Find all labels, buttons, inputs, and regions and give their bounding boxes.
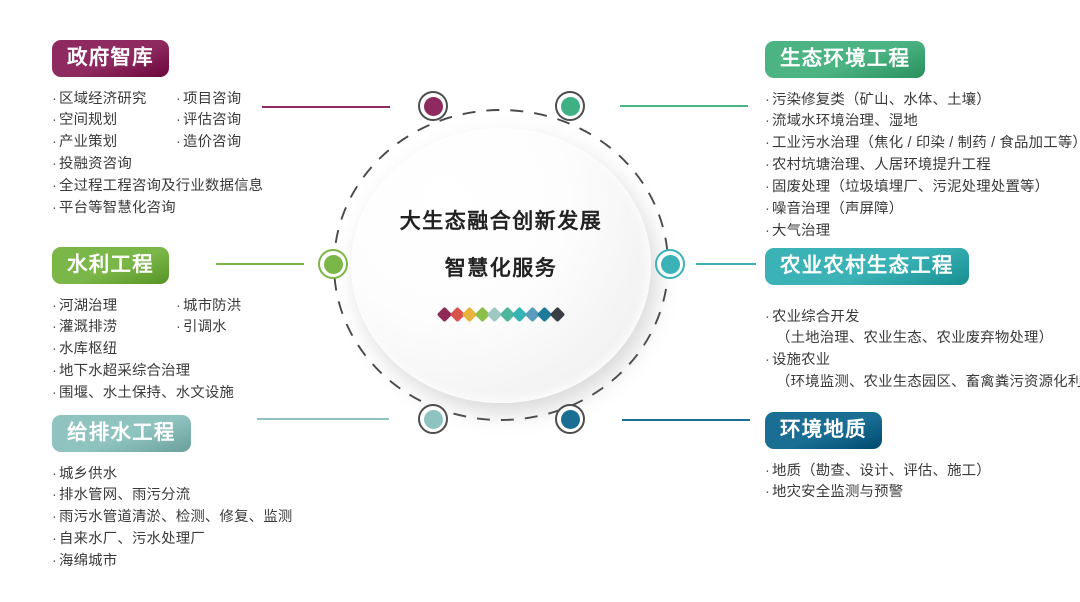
- list-item: ·评估咨询: [176, 110, 296, 132]
- gov-col1: ·区域经济研究 ·空间规划 ·产业策划: [52, 89, 176, 155]
- list-item: ·设施农业: [765, 350, 1080, 372]
- list-item-label: 引调水: [183, 319, 227, 335]
- badge-drain[interactable]: 给排水工程: [52, 415, 191, 452]
- center-title-line1: 大生态融合创新发展: [400, 211, 603, 232]
- list-item: ·地下水超采综合治理: [52, 361, 296, 383]
- list-item: ·雨污水管道清淤、检测、修复、监测: [52, 507, 292, 529]
- list-item-label: 全过程工程咨询及行业数据信息: [59, 178, 263, 194]
- list-item: ·灌溉排涝: [52, 317, 176, 339]
- list-item: ·平台等智慧化咨询: [52, 198, 296, 220]
- list-item-label: 地灾安全监测与预警: [772, 484, 903, 500]
- list-item-label: 城乡供水: [59, 466, 117, 482]
- list-item: ·污染修复类（矿山、水体、土壤）: [765, 90, 1080, 112]
- list-item-label: 污染修复类（矿山、水体、土壤）: [772, 92, 991, 108]
- water-two-column: ·河湖治理 ·灌溉排涝 ·城市防洪 ·引调水: [52, 296, 296, 340]
- category-block-agri: 农业农村生态工程 ·农业综合开发（土地治理、农业生态、农业废弃物处理）·设施农业…: [765, 248, 1080, 394]
- list-item: ·区域经济研究: [52, 89, 176, 111]
- bullet-icon: ·: [765, 463, 770, 479]
- list-item: ·排水管网、雨污分流: [52, 485, 292, 507]
- bullet-icon: ·: [52, 531, 57, 547]
- bullet-icon: ·: [765, 352, 770, 368]
- node-agri[interactable]: [655, 249, 685, 279]
- node-gov-core: [424, 97, 443, 116]
- bullet-icon: ·: [52, 112, 57, 128]
- list-item-label: 灌溉排涝: [59, 319, 117, 335]
- list-item-label: 农业综合开发: [772, 309, 860, 325]
- list-item: ·围堰、水土保持、水文设施: [52, 383, 296, 405]
- list-item-label: 排水管网、雨污分流: [59, 487, 190, 503]
- node-geo-core: [561, 410, 580, 429]
- water-col1: ·河湖治理 ·灌溉排涝: [52, 296, 176, 340]
- bullet-icon: ·: [52, 298, 57, 314]
- list-item: ·河湖治理: [52, 296, 176, 318]
- bullet-icon: ·: [52, 178, 57, 194]
- list-item: ·投融资咨询: [52, 154, 296, 176]
- bullet-icon: ·: [52, 319, 57, 335]
- node-agri-core: [661, 255, 680, 274]
- badge-agri[interactable]: 农业农村生态工程: [765, 248, 969, 285]
- list-item-label: 城市防洪: [183, 298, 241, 314]
- list-item-label: 固废处理（垃圾填埋厂、污泥处理处置等）: [772, 179, 1049, 195]
- list-item-label: 农村坑塘治理、人居环境提升工程: [772, 157, 991, 173]
- list-item-label: 设施农业: [772, 352, 830, 368]
- node-drain-core: [424, 410, 443, 429]
- node-drain[interactable]: [418, 404, 448, 434]
- list-item: ·引调水: [176, 317, 296, 339]
- bullet-icon: ·: [765, 201, 770, 217]
- category-block-eco: 生态环境工程 ·污染修复类（矿山、水体、土壤）·流域水环境治理、湿地·工业污水治…: [765, 41, 1080, 243]
- list-item: ·地质（勘查、设计、评估、施工）: [765, 461, 991, 483]
- list-item: ·流域水环境治理、湿地: [765, 111, 1080, 133]
- bullet-icon: ·: [52, 487, 57, 503]
- badge-geo[interactable]: 环境地质: [765, 412, 882, 449]
- list-item-label: 造价咨询: [183, 134, 241, 150]
- list-item-label: 河湖治理: [59, 298, 117, 314]
- node-gov[interactable]: [418, 91, 448, 121]
- list-item: ·地灾安全监测与预警: [765, 482, 991, 504]
- gov-item-list: ·区域经济研究 ·空间规划 ·产业策划 ·项目咨询 ·评估咨询 ·造价咨询 ·投…: [52, 89, 296, 220]
- node-geo[interactable]: [555, 404, 585, 434]
- drain-item-list: ·城乡供水·排水管网、雨污分流·雨污水管道清淤、检测、修复、监测·自来水厂、污水…: [52, 464, 292, 573]
- list-item-label: （土地治理、农业生态、农业废弃物处理）: [776, 330, 1053, 346]
- bullet-icon: ·: [765, 113, 770, 129]
- list-item: ·产业策划: [52, 132, 176, 154]
- bullet-icon: ·: [176, 112, 181, 128]
- bullet-icon: ·: [176, 319, 181, 335]
- bullet-icon: ·: [765, 135, 770, 151]
- list-item: ·工业污水治理（焦化 / 印染 / 制药 / 食品加工等）: [765, 133, 1080, 155]
- bullet-icon: ·: [52, 363, 57, 379]
- list-item-label: 自来水厂、污水处理厂: [59, 531, 205, 547]
- bullet-icon: ·: [176, 134, 181, 150]
- list-item: ·大气治理: [765, 221, 1080, 243]
- list-item: （环境监测、农业生态园区、畜禽粪污资源化利用）: [765, 372, 1080, 394]
- list-item-label: （环境监测、农业生态园区、畜禽粪污资源化利用）: [776, 374, 1080, 390]
- list-item: ·项目咨询: [176, 89, 296, 111]
- list-item: ·造价咨询: [176, 132, 296, 154]
- list-item-label: 围堰、水土保持、水文设施: [59, 385, 234, 401]
- bullet-icon: ·: [52, 509, 57, 525]
- category-block-geo: 环境地质 ·地质（勘查、设计、评估、施工）·地灾安全监测与预警: [765, 412, 991, 504]
- bullet-icon: ·: [765, 309, 770, 325]
- category-block-water: 水利工程 ·河湖治理 ·灌溉排涝 ·城市防洪 ·引调水 ·水库枢纽 ·地下水超采…: [52, 247, 296, 405]
- node-water-core: [324, 255, 343, 274]
- list-item-label: 区域经济研究: [59, 91, 147, 107]
- bullet-icon: ·: [52, 134, 57, 150]
- list-item-label: 投融资咨询: [59, 156, 132, 172]
- list-item: ·海绵城市: [52, 551, 292, 573]
- bullet-icon: ·: [765, 179, 770, 195]
- list-item-label: 大气治理: [772, 223, 830, 239]
- node-water[interactable]: [318, 249, 348, 279]
- bullet-icon: ·: [52, 466, 57, 482]
- diagram-canvas: 大生态融合创新发展 智慧化服务 政府智库 ·区域经济研究 ·空间规划 ·产业策划…: [0, 0, 1080, 602]
- list-item: ·空间规划: [52, 110, 176, 132]
- water-col2: ·城市防洪 ·引调水: [176, 296, 296, 340]
- list-item-label: 地下水超采综合治理: [59, 363, 190, 379]
- badge-eco[interactable]: 生态环境工程: [765, 41, 925, 78]
- bullet-icon: ·: [52, 385, 57, 401]
- list-item: ·全过程工程咨询及行业数据信息: [52, 176, 296, 198]
- agri-item-list: ·农业综合开发（土地治理、农业生态、农业废弃物处理）·设施农业（环境监测、农业生…: [765, 307, 1080, 395]
- bullet-icon: ·: [52, 341, 57, 357]
- list-item: ·农业综合开发: [765, 307, 1080, 329]
- bullet-icon: ·: [52, 91, 57, 107]
- category-block-gov: 政府智库 ·区域经济研究 ·空间规划 ·产业策划 ·项目咨询 ·评估咨询 ·造价…: [52, 40, 296, 220]
- bullet-icon: ·: [52, 156, 57, 172]
- node-eco[interactable]: [555, 91, 585, 121]
- gov-two-column: ·区域经济研究 ·空间规划 ·产业策划 ·项目咨询 ·评估咨询 ·造价咨询: [52, 89, 296, 155]
- node-eco-core: [561, 97, 580, 116]
- list-item-label: 空间规划: [59, 112, 117, 128]
- water-item-list: ·河湖治理 ·灌溉排涝 ·城市防洪 ·引调水 ·水库枢纽 ·地下水超采综合治理 …: [52, 296, 296, 405]
- bullet-icon: ·: [52, 200, 57, 216]
- list-item-label: 评估咨询: [183, 112, 241, 128]
- center-hub: 大生态融合创新发展 智慧化服务: [318, 95, 684, 435]
- gov-col2: ·项目咨询 ·评估咨询 ·造价咨询: [176, 89, 296, 155]
- list-item: （土地治理、农业生态、农业废弃物处理）: [765, 328, 1080, 350]
- center-title-line2: 智慧化服务: [445, 258, 558, 279]
- badge-gov[interactable]: 政府智库: [52, 40, 169, 77]
- list-item: ·城乡供水: [52, 464, 292, 486]
- bullet-icon: ·: [765, 92, 770, 108]
- list-item-label: 流域水环境治理、湿地: [772, 113, 918, 129]
- diamond-decoration: [439, 309, 563, 320]
- geo-item-list: ·地质（勘查、设计、评估、施工）·地灾安全监测与预警: [765, 461, 991, 505]
- bullet-icon: ·: [52, 553, 57, 569]
- bullet-icon: ·: [765, 223, 770, 239]
- bullet-icon: ·: [765, 157, 770, 173]
- list-item: ·噪音治理（声屏障）: [765, 199, 1080, 221]
- list-item-label: 产业策划: [59, 134, 117, 150]
- list-item: ·农村坑塘治理、人居环境提升工程: [765, 155, 1080, 177]
- eco-item-list: ·污染修复类（矿山、水体、土壤）·流域水环境治理、湿地·工业污水治理（焦化 / …: [765, 90, 1080, 243]
- bullet-icon: ·: [176, 298, 181, 314]
- list-item-label: 水库枢纽: [59, 341, 117, 357]
- list-item-label: 噪音治理（声屏障）: [772, 201, 903, 217]
- connector-line-agri: [696, 263, 756, 265]
- list-item-label: 海绵城市: [59, 553, 117, 569]
- list-item: ·城市防洪: [176, 296, 296, 318]
- list-item-label: 地质（勘查、设计、评估、施工）: [772, 463, 991, 479]
- bullet-icon: ·: [765, 484, 770, 500]
- list-item-label: 雨污水管道清淤、检测、修复、监测: [59, 509, 292, 525]
- list-item-label: 项目咨询: [183, 91, 241, 107]
- list-item: ·固废处理（垃圾填埋厂、污泥处理处置等）: [765, 177, 1080, 199]
- list-item: ·自来水厂、污水处理厂: [52, 529, 292, 551]
- center-text-group: 大生态融合创新发展 智慧化服务: [351, 128, 651, 403]
- badge-water[interactable]: 水利工程: [52, 247, 169, 284]
- list-item-label: 平台等智慧化咨询: [59, 200, 176, 216]
- category-block-drain: 给排水工程 ·城乡供水·排水管网、雨污分流·雨污水管道清淤、检测、修复、监测·自…: [52, 415, 292, 573]
- bullet-icon: ·: [176, 91, 181, 107]
- diamond-9: [549, 307, 565, 323]
- list-item: ·水库枢纽: [52, 339, 296, 361]
- list-item-label: 工业污水治理（焦化 / 印染 / 制药 / 食品加工等）: [772, 135, 1080, 151]
